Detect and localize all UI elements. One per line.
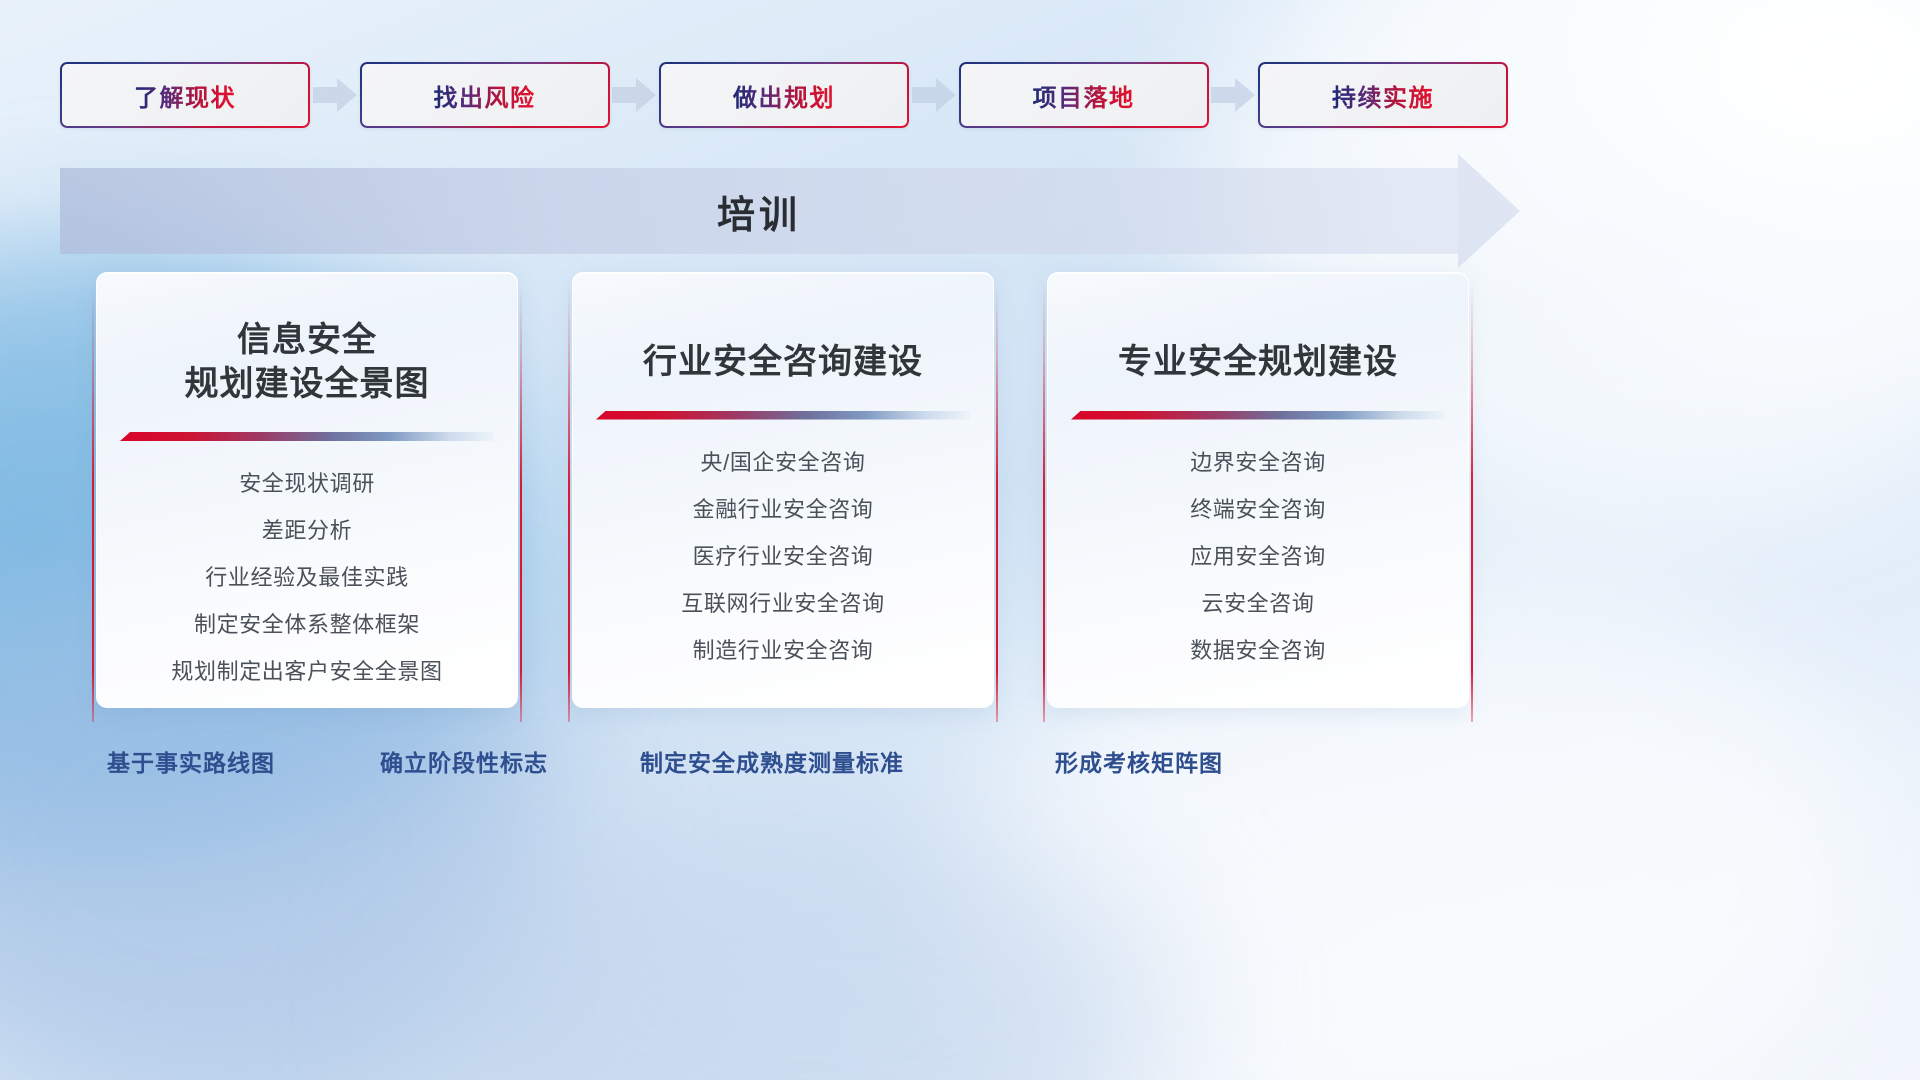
card-slot-1: 信息安全 规划建设全景图 安全现状调研 差距分析 行业经验及最佳实践 制定安全体… — [92, 272, 522, 722]
right-arrow-icon — [612, 78, 656, 112]
stage-box-1[interactable]: 了解现状 — [60, 62, 310, 128]
list-item: 差距分析 — [262, 510, 352, 551]
stage-arrow-3 — [909, 78, 959, 112]
stage-label-3: 做出规划 — [733, 78, 835, 113]
stage-box-2[interactable]: 找出风险 — [360, 62, 610, 128]
stage-label-1: 了解现状 — [134, 78, 236, 113]
list-item: 央/国企安全咨询 — [701, 442, 866, 483]
stage-arrow-1 — [310, 78, 360, 112]
training-banner-arrowhead — [1458, 154, 1520, 268]
list-item: 云安全咨询 — [1201, 583, 1314, 624]
footer-label-1: 基于事实路线图 — [107, 744, 275, 778]
process-stage-row: 了解现状 找出风险 做出规划 项目落地 持续实施 — [60, 62, 1508, 128]
list-item: 数据安全咨询 — [1190, 630, 1326, 671]
footer-label-4: 形成考核矩阵图 — [1055, 744, 1223, 778]
background-glow-bottom-center — [420, 800, 1180, 1080]
card-slot-3: 专业安全规划建设 边界安全咨询 终端安全咨询 应用安全咨询 云安全咨询 数据安全… — [1043, 272, 1473, 722]
card-divider-1 — [120, 432, 494, 441]
list-item: 医疗行业安全咨询 — [693, 536, 874, 577]
footer-label-2: 确立阶段性标志 — [380, 744, 548, 778]
footer-label-3: 制定安全成熟度测量标准 — [640, 744, 904, 778]
stage-box-5[interactable]: 持续实施 — [1258, 62, 1508, 128]
card-accent-right-3 — [1471, 286, 1473, 722]
stage-arrow-4 — [1209, 78, 1259, 112]
card-accent-left-3 — [1043, 286, 1045, 722]
list-item: 行业经验及最佳实践 — [205, 557, 408, 598]
card-2[interactable]: 行业安全咨询建设 央/国企安全咨询 金融行业安全咨询 医疗行业安全咨询 互联网行… — [572, 272, 994, 708]
card-accent-right-2 — [996, 286, 998, 722]
card-1[interactable]: 信息安全 规划建设全景图 安全现状调研 差距分析 行业经验及最佳实践 制定安全体… — [96, 272, 518, 708]
card-accent-left-2 — [568, 286, 570, 722]
training-banner-label: 培训 — [60, 168, 1458, 254]
card-list-2: 央/国企安全咨询 金融行业安全咨询 医疗行业安全咨询 互联网行业安全咨询 制造行… — [573, 442, 993, 671]
stage-label-2: 找出风险 — [434, 78, 536, 113]
card-3[interactable]: 专业安全规划建设 边界安全咨询 终端安全咨询 应用安全咨询 云安全咨询 数据安全… — [1047, 272, 1469, 708]
right-arrow-icon — [313, 78, 357, 112]
list-item: 规划制定出客户安全全景图 — [171, 651, 442, 692]
list-item: 制造行业安全咨询 — [693, 630, 874, 671]
card-slot-2: 行业安全咨询建设 央/国企安全咨询 金融行业安全咨询 医疗行业安全咨询 互联网行… — [568, 272, 998, 722]
card-divider-3 — [1071, 411, 1445, 420]
card-list-3: 边界安全咨询 终端安全咨询 应用安全咨询 云安全咨询 数据安全咨询 — [1048, 442, 1468, 671]
card-title-3: 专业安全规划建设 — [1118, 341, 1398, 385]
stage-arrow-2 — [610, 78, 660, 112]
footer-labels-row: 基于事实路线图 确立阶段性标志 制定安全成熟度测量标准 形成考核矩阵图 — [0, 744, 1920, 788]
card-divider-2 — [596, 411, 970, 420]
stage-box-4[interactable]: 项目落地 — [959, 62, 1209, 128]
training-banner: 培训 — [60, 168, 1520, 254]
card-list-1: 安全现状调研 差距分析 行业经验及最佳实践 制定安全体系整体框架 规划制定出客户… — [97, 463, 517, 692]
cards-row: 信息安全 规划建设全景图 安全现状调研 差距分析 行业经验及最佳实践 制定安全体… — [0, 272, 1920, 722]
card-title-1: 信息安全 规划建设全景图 — [185, 319, 430, 406]
stage-label-5: 持续实施 — [1332, 78, 1434, 113]
list-item: 终端安全咨询 — [1190, 489, 1326, 530]
list-item: 应用安全咨询 — [1190, 536, 1326, 577]
card-title-2: 行业安全咨询建设 — [643, 341, 923, 385]
stage-box-3[interactable]: 做出规划 — [659, 62, 909, 128]
list-item: 安全现状调研 — [239, 463, 375, 504]
list-item: 互联网行业安全咨询 — [681, 583, 884, 624]
card-accent-left-1 — [92, 286, 94, 722]
list-item: 金融行业安全咨询 — [693, 489, 874, 530]
list-item: 制定安全体系整体框架 — [194, 604, 420, 645]
card-accent-right-1 — [520, 286, 522, 722]
list-item: 边界安全咨询 — [1190, 442, 1326, 483]
right-arrow-icon — [1211, 78, 1255, 112]
stage-label-4: 项目落地 — [1033, 78, 1135, 113]
right-arrow-icon — [912, 78, 956, 112]
